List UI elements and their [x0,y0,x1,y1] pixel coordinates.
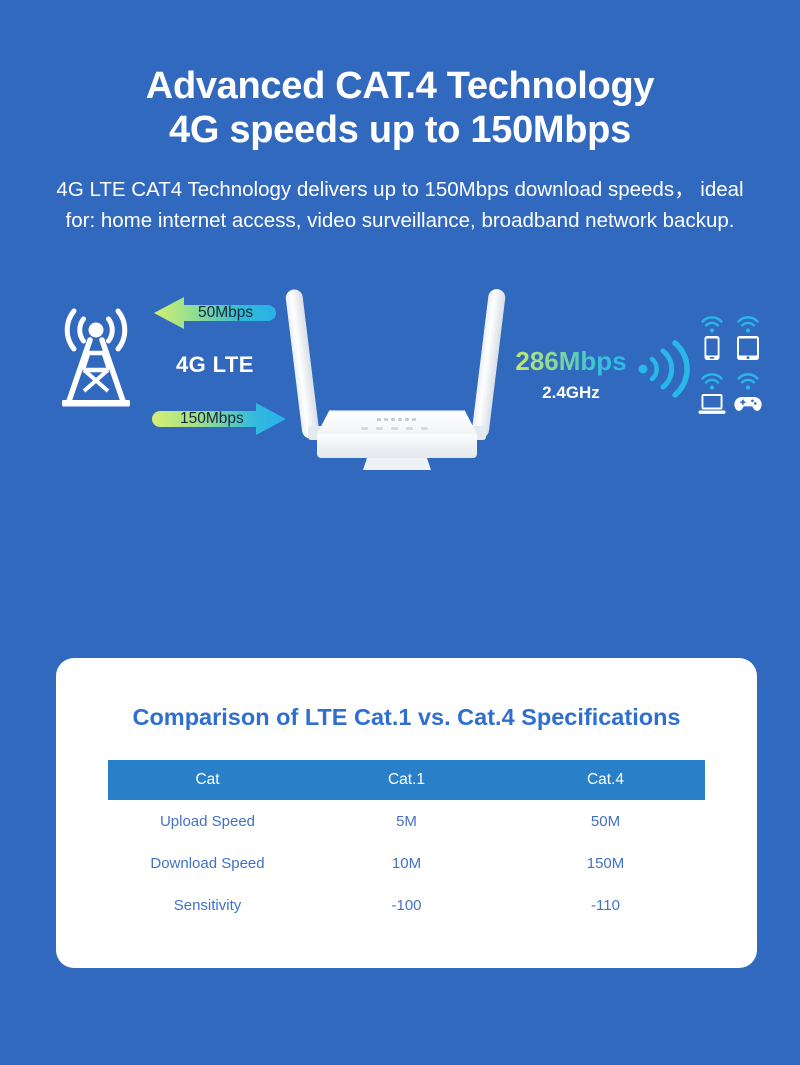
spec-table: Cat Cat.1 Cat.4 Upload Speed 5M 50M Down… [108,760,705,926]
wifi-speed-block: 286Mbps 2.4GHz [511,346,631,403]
table-row: Sensitivity -100 -110 [108,884,705,926]
headline-line-1: Advanced CAT.4 Technology [146,65,654,107]
table-header-row: Cat Cat.1 Cat.4 [108,760,705,800]
table-row: Upload Speed 5M 50M [108,800,705,842]
row-label: Download Speed [108,842,307,884]
device-laptop [697,370,727,418]
table-row: Download Speed 10M 150M [108,842,705,884]
cell-cat1: 5M [307,800,506,842]
column-header-cat4: Cat.4 [506,760,705,800]
wifi-arcs-icon [703,374,722,389]
cell-cat1: -100 [307,884,506,926]
wifi-signal-icon [637,339,691,399]
cell-cat4: 50M [506,800,705,842]
wifi-speed-value: 286Mbps [511,346,631,377]
device-tablet [733,313,763,361]
downlink-speed-label: 150Mbps [180,402,244,436]
wifi-router-icon [281,278,513,473]
cell-cat1: 10M [307,842,506,884]
connected-devices [697,313,761,423]
wifi-arcs-icon [703,317,722,332]
uplink-arrow: 50Mbps [154,296,278,330]
device-gamepad [733,370,763,418]
network-type-label: 4G LTE [176,352,254,378]
cell-cat4: 150M [506,842,705,884]
wifi-arcs-icon [739,374,758,389]
headline-line-2: 4G speeds up to 150Mbps [0,108,800,152]
hero-subtitle: 4G LTE CAT4 Technology delivers up to 15… [50,174,750,236]
device-smartphone [697,313,727,361]
uplink-speed-label: 50Mbps [198,296,253,330]
column-header-cat1: Cat.1 [307,760,506,800]
cell-cat4: -110 [506,884,705,926]
network-diagram: 50Mbps 4G LTE 150Mbps [0,278,800,568]
column-header-cat: Cat [108,760,307,800]
row-label: Sensitivity [108,884,307,926]
spec-comparison-card: Comparison of LTE Cat.1 vs. Cat.4 Specif… [56,658,757,968]
cell-tower-icon [56,308,136,413]
row-label: Upload Speed [108,800,307,842]
downlink-arrow: 150Mbps [152,402,286,436]
wifi-band-label: 2.4GHz [511,383,631,403]
page-title: Advanced CAT.4 Technology 4G speeds up t… [0,64,800,152]
wifi-arcs-icon [739,317,758,332]
hero-header: Advanced CAT.4 Technology 4G speeds up t… [0,0,800,236]
card-title: Comparison of LTE Cat.1 vs. Cat.4 Specif… [56,704,757,731]
